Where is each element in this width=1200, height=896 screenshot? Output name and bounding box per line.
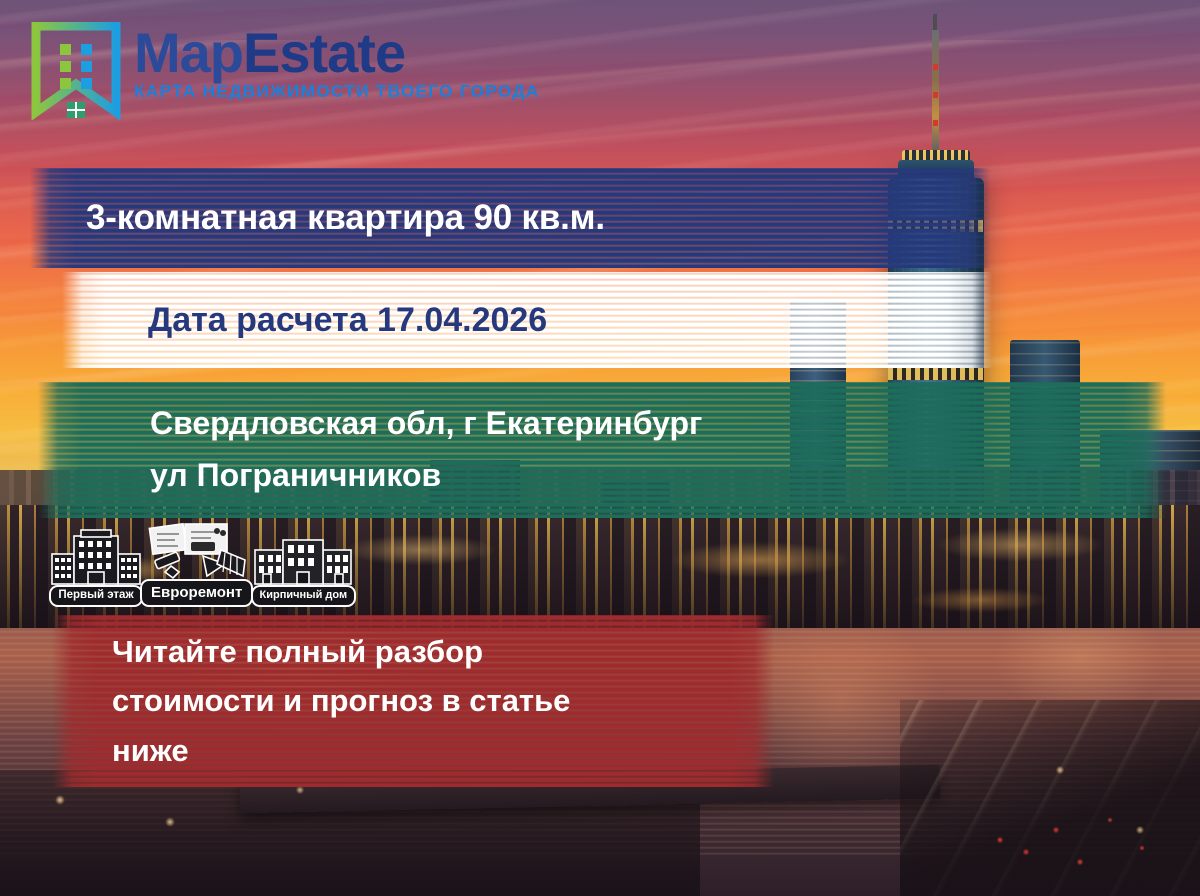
band-content: Свердловская обл, г Екатеринбург ул Погр… xyxy=(38,398,1166,502)
brand-logo[interactable]: MapEstate КАРТА НЕДВИЖИМОСТИ ТВОЕГО ГОРО… xyxy=(30,22,540,120)
brand-logo-text: MapEstate КАРТА НЕДВИЖИМОСТИ ТВОЕГО ГОРО… xyxy=(134,22,540,102)
renovation-tools-icon xyxy=(145,520,249,584)
brand-name-part1: Map xyxy=(134,21,243,84)
property-title-band: 3-комнатная квартира 90 кв.м. xyxy=(30,168,990,268)
tower-lit-band xyxy=(888,368,984,380)
badge-label: Кирпичный дом xyxy=(251,585,357,607)
address-line-1: Свердловская обл, г Екатеринбург xyxy=(150,398,1166,450)
brick-house-icon xyxy=(249,528,357,590)
feature-badges: Первый этаж xyxy=(48,520,357,607)
cta-line-2: стоимости и прогноз в статье xyxy=(112,676,774,726)
property-title: 3-комнатная квартира 90 кв.м. xyxy=(86,198,990,238)
badge-brick-house[interactable]: Кирпичный дом xyxy=(249,528,357,607)
brand-name-part2: Estate xyxy=(243,21,405,84)
calculation-date-band: Дата расчета 17.04.2026 xyxy=(62,272,992,368)
address-band: Свердловская обл, г Екатеринбург ул Погр… xyxy=(38,382,1166,518)
cta-line-3: ниже xyxy=(112,726,774,776)
call-to-action-band: Читайте полный разбор стоимости и прогно… xyxy=(52,615,774,787)
badge-label: Первый этаж xyxy=(49,585,142,608)
band-content: 3-комнатная квартира 90 кв.м. xyxy=(30,198,990,238)
badge-first-floor[interactable]: Первый этаж xyxy=(48,528,144,608)
badge-renovation[interactable]: Евроремонт xyxy=(140,520,253,607)
band-content: Дата расчета 17.04.2026 xyxy=(62,301,992,340)
badge-label: Евроремонт xyxy=(140,579,253,607)
calculation-date: Дата расчета 17.04.2026 xyxy=(148,301,992,340)
address-line-2: ул Пограничников xyxy=(150,450,1166,502)
brand-name: MapEstate xyxy=(134,26,540,79)
promo-poster: MapEstate КАРТА НЕДВИЖИМОСТИ ТВОЕГО ГОРО… xyxy=(0,0,1200,896)
band-content: Читайте полный разбор стоимости и прогно… xyxy=(52,627,774,776)
antenna-mast-icon xyxy=(932,30,939,154)
brand-tagline: КАРТА НЕДВИЖИМОСТИ ТВОЕГО ГОРОДА xyxy=(134,81,540,102)
cta-line-1: Читайте полный разбор xyxy=(112,627,774,677)
apartment-building-icon xyxy=(48,528,144,590)
bookmark-building-icon xyxy=(30,22,122,120)
